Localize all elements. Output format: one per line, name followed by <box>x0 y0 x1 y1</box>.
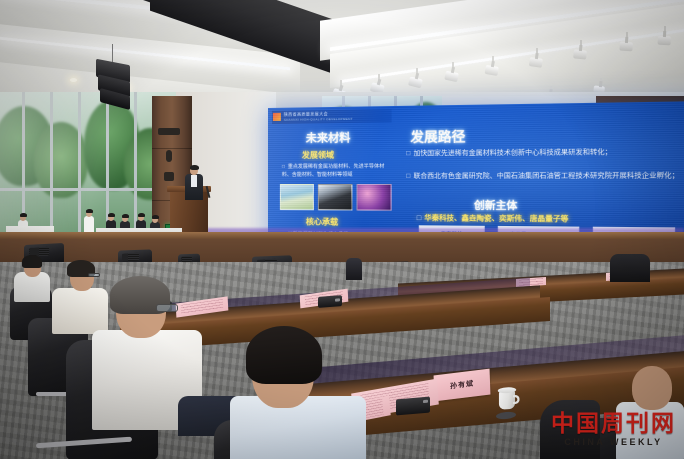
presenter-person <box>185 166 203 200</box>
slide-left-bullet: 重点发展稀有金属功能材料、先进半导体材料、含能材料、智能材料等领域 <box>282 163 394 179</box>
teacup <box>499 390 515 409</box>
wall-sensor <box>166 150 172 162</box>
slide-thumbnail-1 <box>280 184 314 210</box>
seated-attendee-far <box>346 258 362 280</box>
wall-mounted-speaker <box>158 128 180 135</box>
spotlight <box>529 57 543 68</box>
slide-right-bullet-2: 联合西北有色金属研究院、中国石油集团石油管工程技术研究院开展科技企业孵化； <box>406 171 684 182</box>
eyeglasses <box>88 273 100 277</box>
eyeglasses <box>156 304 178 312</box>
watermark-english: CHINA WEEKLY <box>551 437 676 447</box>
logo-mark-icon <box>273 113 281 121</box>
slide-thumbnail-2 <box>318 184 353 210</box>
spotlight <box>658 36 671 46</box>
slide-header-subtitle: SHAANXI HIGH-QUALITY DEVELOPMENT <box>284 117 353 122</box>
slide-thumbnail-3 <box>357 184 392 211</box>
watermark-chinese: 中国周刊网 <box>551 412 676 435</box>
wall-camera <box>164 172 174 181</box>
seated-attendee-far <box>610 254 650 282</box>
desk-microphone-base <box>396 397 430 416</box>
slide-left-heading: 发展领域 <box>302 150 334 161</box>
slide-header-logo: 陕西省高质量发展大会 SHAANXI HIGH-QUALITY DEVELOPM… <box>272 109 392 124</box>
spotlight <box>573 49 587 59</box>
watermark: 中国周刊网 CHINA WEEKLY <box>551 412 676 447</box>
slide-title-left: 未来材料 <box>306 129 351 146</box>
slide-left-subheading: 核心承载 <box>306 216 338 227</box>
desk-microphone-base <box>318 295 342 308</box>
downlight <box>70 78 77 82</box>
stage-edge <box>0 232 684 239</box>
slide-title-right: 发展路径 <box>410 126 465 146</box>
spotlight <box>619 42 633 52</box>
seated-attendee <box>14 256 50 300</box>
conference-hall-photo: 陕西省高质量发展大会 SHAANXI HIGH-QUALITY DEVELOPM… <box>0 0 684 459</box>
seated-attendee-center <box>236 332 360 459</box>
slide-right-subheading: 创新主体 <box>474 197 517 213</box>
slide-right-subbullet: 华秦科技、鑫垚陶瓷、奕斯伟、唐晶量子等 <box>417 213 569 225</box>
slide-right-bullet-1: 加快国家先进稀有金属材料技术创新中心科技成果研发和转化； <box>406 147 684 160</box>
